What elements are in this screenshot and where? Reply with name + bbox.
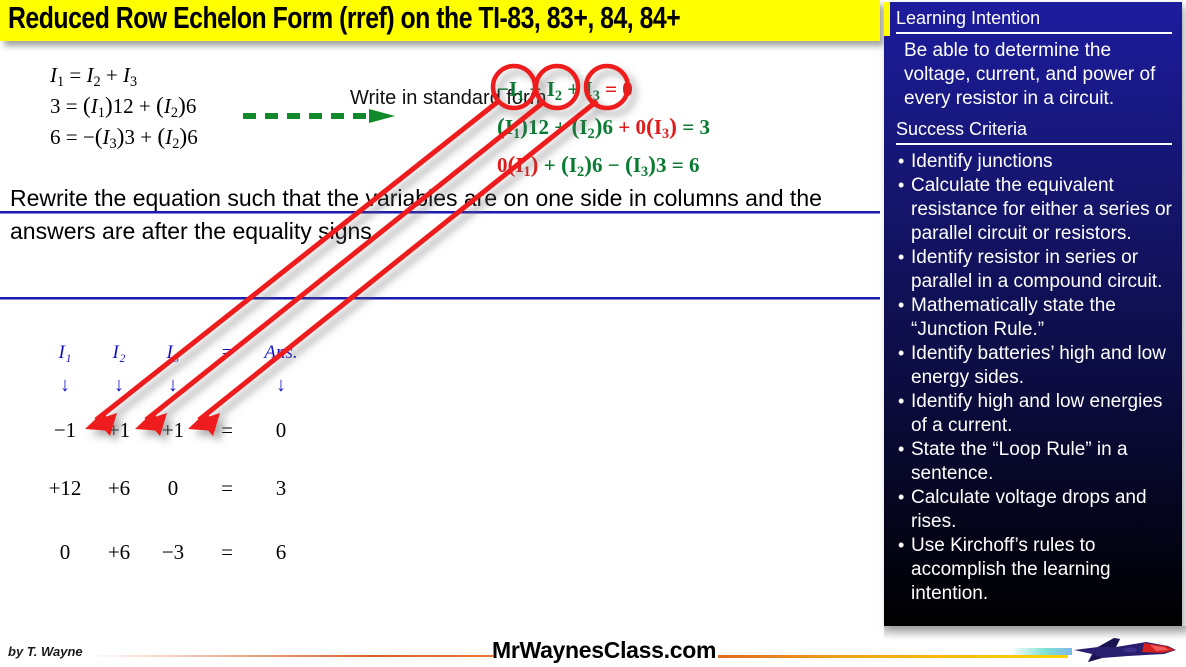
list-item: Calculate the equivalent resistance for … xyxy=(896,174,1172,246)
matrix-cell: = xyxy=(200,520,254,584)
footer-rule-right xyxy=(718,655,1068,658)
list-item: Identify high and low energies of a curr… xyxy=(896,390,1172,438)
list-item: Identify junctions xyxy=(896,150,1172,174)
sidebar-panel: Learning Intention Be able to determine … xyxy=(884,2,1182,626)
learning-intention-body: Be able to determine the voltage, curren… xyxy=(896,39,1172,111)
matrix-cell: = xyxy=(200,456,254,520)
matrix-header-row: I₁ I₂ I₃ = Ans. xyxy=(38,340,308,366)
table-row: +12 +6 0 = 3 xyxy=(38,456,308,520)
matrix-arrow-row: ↓ ↓ ↓ ↓ xyxy=(38,366,308,404)
matrix-cell: +6 xyxy=(92,520,146,584)
table-row: −1 +1 +1 = 0 xyxy=(38,404,308,456)
matrix-header-cell: Ans. xyxy=(254,340,308,366)
matrix-cell: 0 xyxy=(254,404,308,456)
original-equation-1: I1 = I2 + I3 xyxy=(50,60,198,91)
original-equations: I1 = I2 + I3 3 = (I1)12 + (I2)6 6 = −(I3… xyxy=(50,60,198,153)
matrix-cell: 0 xyxy=(146,456,200,520)
footer-rule-left xyxy=(88,655,493,657)
page-title: Reduced Row Echelon Form (rref) on the T… xyxy=(8,0,680,38)
matrix-cell: 3 xyxy=(254,456,308,520)
list-item: Mathematically state the “Junction Rule.… xyxy=(896,294,1172,342)
matrix-cell: 0 xyxy=(38,520,92,584)
matrix-header-cell: I₂ xyxy=(92,340,146,366)
title-banner: Reduced Row Echelon Form (rref) on the T… xyxy=(0,0,880,41)
jet-trail xyxy=(1010,648,1072,655)
learning-intention-heading: Learning Intention xyxy=(896,6,1172,30)
matrix-cell: −1 xyxy=(38,404,92,456)
matrix-table: I₁ I₂ I₃ = Ans. ↓ ↓ ↓ ↓ −1 +1 +1 = 0 xyxy=(38,340,308,584)
matrix-cell: +12 xyxy=(38,456,92,520)
list-item: Calculate voltage drops and rises. xyxy=(896,486,1172,534)
matrix-header-cell: I₁ xyxy=(38,340,92,366)
standard-equation-3: 0(I1) + (I2)6 − (I3)3 = 6 xyxy=(497,146,710,184)
green-dashed-arrow-icon xyxy=(243,109,403,123)
list-item: Identify resistor in series or parallel … xyxy=(896,246,1172,294)
list-item: State the “Loop Rule” in a sentence. xyxy=(896,438,1172,486)
slide-canvas: Reduced Row Echelon Form (rref) on the T… xyxy=(0,0,1186,667)
down-arrow-icon: ↓ xyxy=(146,366,200,404)
matrix-cell: +1 xyxy=(92,404,146,456)
site-name: MrWaynesClass.com xyxy=(492,637,716,664)
standard-form-equations: −I1 + I2 + I3 = 0 (I1)12 + (I2)6 + 0(I3)… xyxy=(497,70,710,184)
sidebar-divider xyxy=(896,143,1172,145)
spacer-cell xyxy=(200,366,254,404)
original-equation-2: 3 = (I1)12 + (I2)6 xyxy=(50,91,198,122)
matrix-cell: +1 xyxy=(146,404,200,456)
matrix-cell: = xyxy=(200,404,254,456)
sidebar-divider xyxy=(896,32,1172,34)
success-criteria-heading: Success Criteria xyxy=(896,117,1172,141)
down-arrow-icon: ↓ xyxy=(38,366,92,404)
down-arrow-icon: ↓ xyxy=(92,366,146,404)
byline: by T. Wayne xyxy=(8,644,83,659)
list-item: Identify batteries’ high and low energy … xyxy=(896,342,1172,390)
standard-equation-1: −I1 + I2 + I3 = 0 xyxy=(497,70,710,108)
matrix-cell: −3 xyxy=(146,520,200,584)
original-equation-3: 6 = −(I3)3 + (I2)6 xyxy=(50,122,198,153)
standard-equation-2: (I1)12 + (I2)6 + 0(I3) = 3 xyxy=(497,108,710,146)
down-arrow-icon: ↓ xyxy=(254,366,308,404)
table-row: 0 +6 −3 = 6 xyxy=(38,520,308,584)
instruction-text: Rewrite the equation such that the varia… xyxy=(10,182,870,248)
matrix-cell: +6 xyxy=(92,456,146,520)
success-criteria-list: Identify junctions Calculate the equival… xyxy=(896,150,1172,606)
list-item: Use Kirchoff’s rules to accomplish the l… xyxy=(896,534,1172,606)
matrix-header-cell: = xyxy=(200,340,254,366)
sidebar-accent-tab xyxy=(884,2,890,36)
jet-plane-icon xyxy=(1068,632,1180,664)
matrix-header-cell: I₃ xyxy=(146,340,200,366)
matrix-cell: 6 xyxy=(254,520,308,584)
